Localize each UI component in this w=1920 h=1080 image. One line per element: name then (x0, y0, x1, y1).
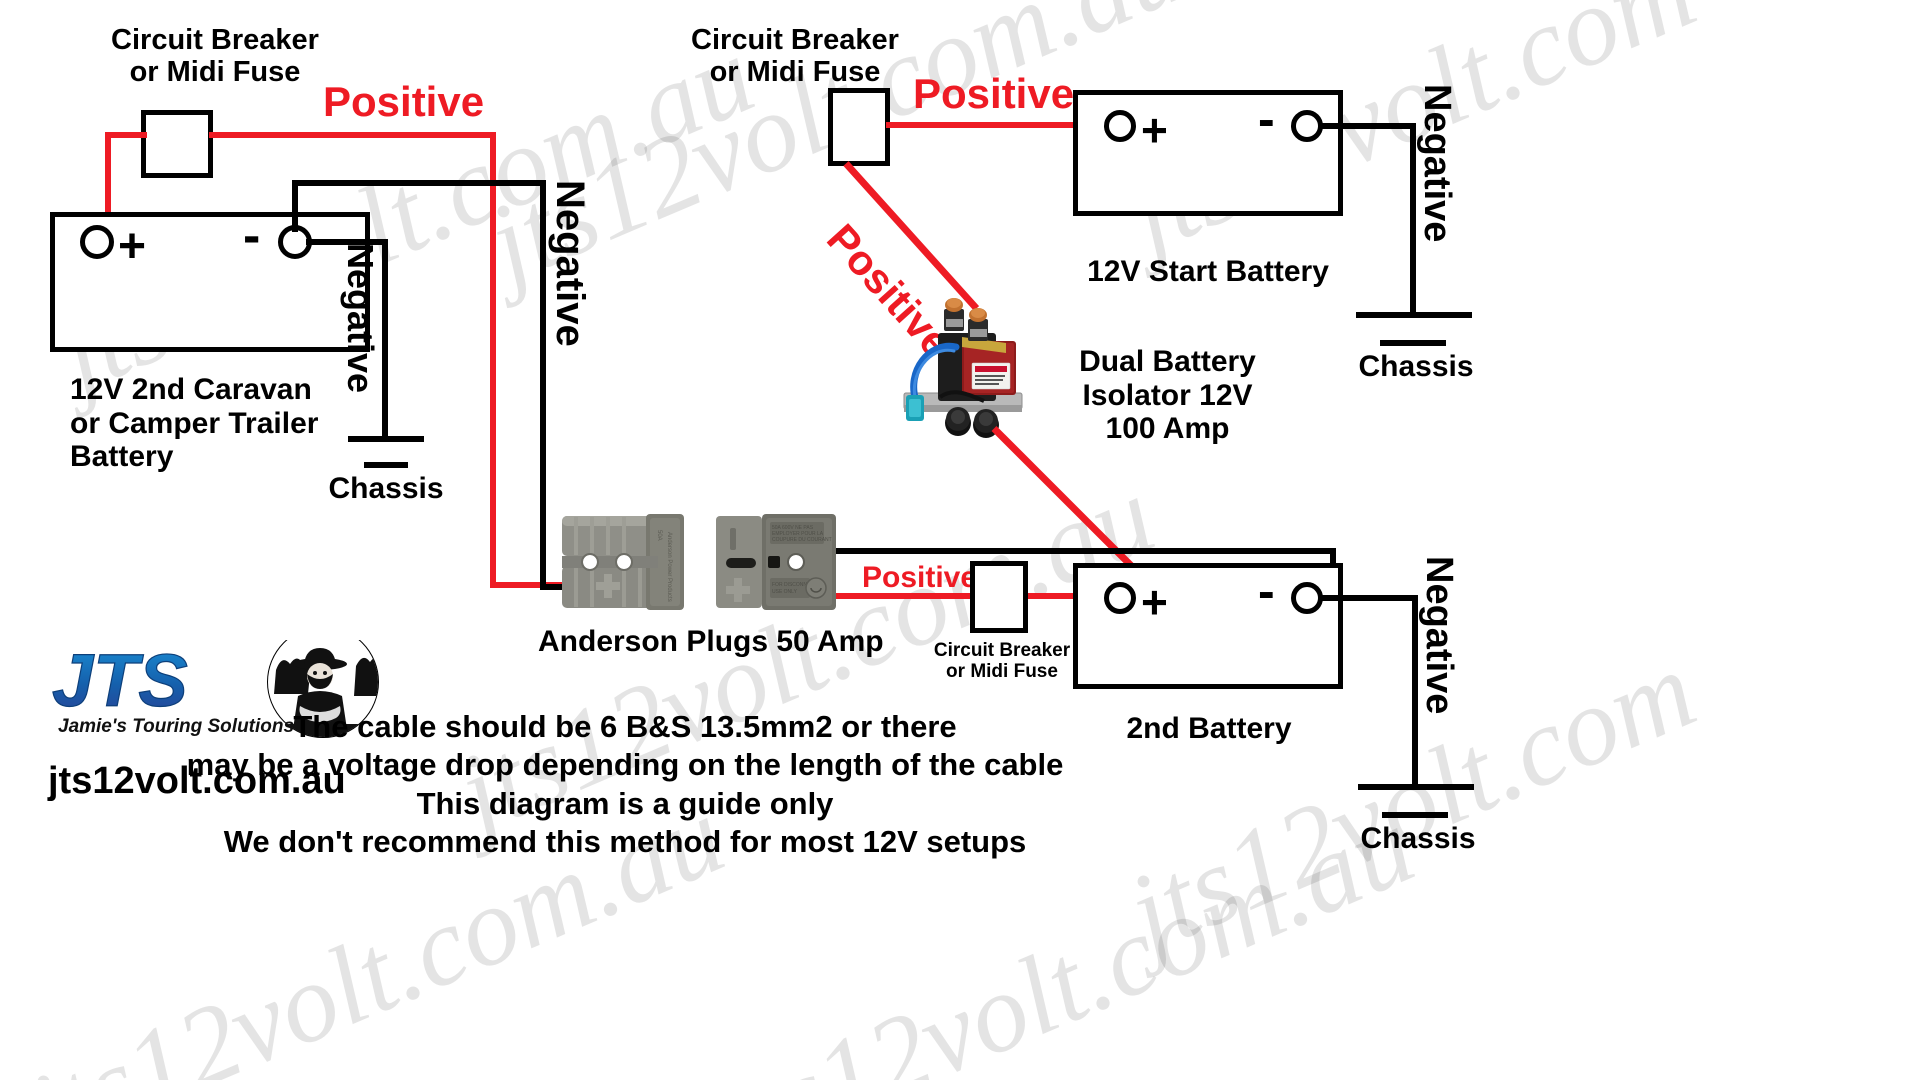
negative-label: Negative (1417, 556, 1460, 714)
chassis-ground-bar (1358, 784, 1474, 790)
chassis-ground-bar (1380, 340, 1446, 346)
positive-wire-segment (490, 132, 496, 588)
battery-positive-sign: + (118, 219, 146, 274)
battery-positive-terminal (80, 225, 114, 259)
svg-text:Anderson Power Products: Anderson Power Products (666, 532, 672, 602)
circuit-breaker-box-left (141, 110, 213, 178)
negative-wire-segment (836, 548, 1336, 554)
guide-note: This diagram is a guide only We don't re… (185, 785, 1065, 861)
start-battery-body (1073, 90, 1343, 216)
second-battery-positive-sign: + (1141, 575, 1168, 629)
positive-wire-segment (105, 132, 147, 138)
second-battery-positive-terminal (1104, 582, 1136, 614)
cable-note: The cable should be 6 B&S 13.5mm2 or the… (185, 708, 1065, 784)
isolator-label: Dual Battery Isolator 12V 100 Amp (1045, 345, 1290, 446)
anderson-plugs-label: Anderson Plugs 50 Amp (538, 625, 878, 659)
positive-wire-segment (209, 132, 496, 138)
negative-label: Negative (1415, 84, 1458, 242)
svg-text:JTS: JTS (52, 640, 188, 722)
negative-wire-segment (382, 239, 388, 439)
positive-label: Positive (913, 70, 1074, 117)
second-battery-label: 2nd Battery (1080, 712, 1338, 746)
positive-label: Positive (323, 78, 484, 125)
chassis-label: Chassis (306, 472, 466, 506)
chassis-ground-bar (364, 462, 408, 468)
second-battery-negative-sign: - (1258, 562, 1275, 620)
circuit-breaker-label-bottom: Circuit Breaker or Midi Fuse (928, 640, 1076, 683)
chassis-ground-bar (1382, 812, 1448, 818)
chassis-label: Chassis (1336, 350, 1496, 384)
anderson-plug-left: Anderson Power Products 50A (560, 512, 688, 612)
circuit-breaker-label-right: Circuit Breaker or Midi Fuse (650, 24, 940, 89)
anderson-plug-right: 50A 600V NE PAS EMPLOYER POUR LA COUPURE… (712, 512, 840, 612)
chassis-ground-bar (348, 436, 424, 442)
circuit-breaker-box-right (828, 88, 890, 166)
negative-wire-segment (1318, 595, 1418, 601)
circuit-breaker-label-left: Circuit Breaker or Midi Fuse (70, 24, 360, 89)
chassis-ground-bar (1356, 312, 1472, 318)
start-battery-negative-sign: - (1258, 90, 1275, 148)
positive-label: Positive (862, 561, 977, 595)
svg-text:USE ONLY: USE ONLY (772, 589, 798, 595)
chassis-label: Chassis (1338, 822, 1498, 856)
negative-label: Negative (340, 243, 380, 393)
battery-negative-sign: - (243, 206, 260, 266)
caravan-battery-label: 12V 2nd Caravan or Camper Trailer Batter… (70, 373, 318, 474)
negative-wire-segment (292, 180, 298, 232)
start-battery-label: 12V Start Battery (1068, 255, 1348, 289)
negative-wire-segment (292, 180, 546, 186)
negative-wire-segment (540, 180, 546, 590)
negative-wire-segment (1318, 123, 1416, 129)
start-battery-positive-terminal (1104, 110, 1136, 142)
svg-text:COUPURE DU COURANT: COUPURE DU COURANT (772, 537, 832, 543)
circuit-breaker-box-bottom (970, 561, 1028, 633)
negative-label: Negative (547, 180, 592, 347)
start-battery-positive-sign: + (1141, 103, 1168, 157)
wiring-diagram-canvas: jts12volt.com.au jts12volt.com.au jts12v… (0, 0, 1920, 1080)
svg-text:50A: 50A (656, 530, 662, 541)
dual-battery-isolator (900, 275, 1030, 440)
